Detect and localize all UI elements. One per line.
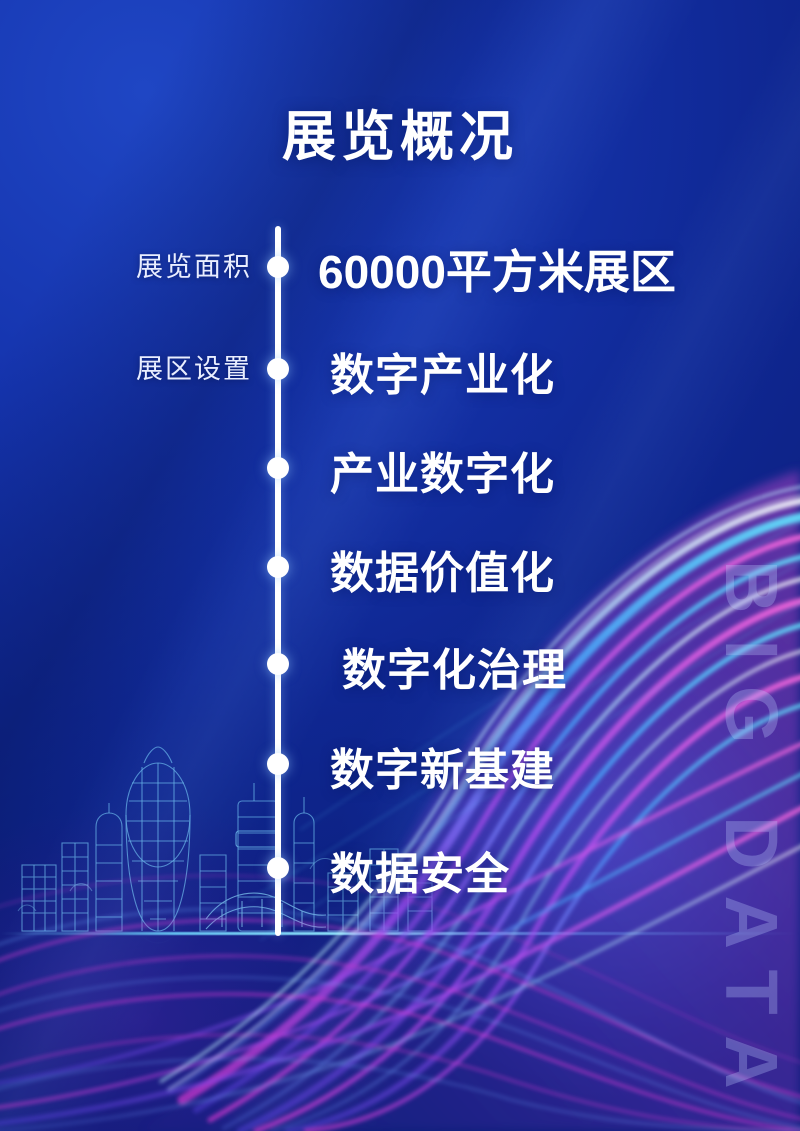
row-text: 60000平方米展区 [318, 236, 676, 302]
row-text: 数据价值化 [330, 537, 555, 601]
row-text: 产业数字化 [330, 438, 555, 502]
row-text: 数字新基建 [330, 734, 555, 798]
row-text: 数字化治理 [342, 634, 567, 698]
row-label: 展览面积 [136, 245, 252, 284]
row-text: 数字产业化 [330, 339, 555, 403]
timeline-rows: 展览面积 60000平方米展区 展区设置 数字产业化 产业数字化 数据价值化 数… [0, 0, 800, 1131]
timeline-dot-icon [267, 857, 289, 879]
row-label: 展区设置 [136, 347, 252, 386]
timeline-dot-icon [267, 753, 289, 775]
timeline-dot-icon [267, 358, 289, 380]
poster-canvas: BIG DATA 展览概况 展览面积 60000平方米展区 展区设置 数字产业化… [0, 0, 800, 1131]
row-text: 数据安全 [330, 838, 510, 902]
timeline-dot-icon [267, 256, 289, 278]
timeline-dot-icon [267, 556, 289, 578]
timeline-dot-icon [267, 457, 289, 479]
timeline-dot-icon [267, 653, 289, 675]
